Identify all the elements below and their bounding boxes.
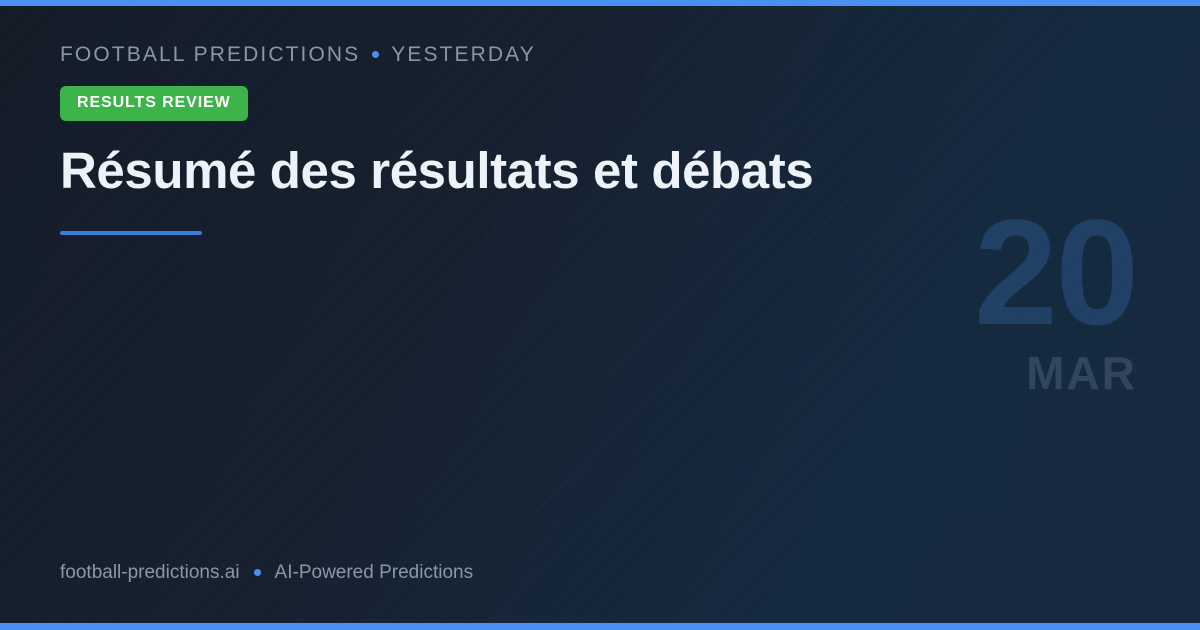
date-month: MAR — [974, 350, 1137, 396]
bullet-dot-icon — [254, 569, 261, 576]
bullet-dot-icon — [372, 51, 379, 58]
eyebrow-category: FOOTBALL PREDICTIONS — [60, 44, 360, 65]
date-display: 20 MAR — [974, 212, 1137, 396]
footer-site: football-predictions.ai — [60, 563, 240, 582]
status-badge: RESULTS REVIEW — [60, 86, 248, 121]
footer-tagline: AI-Powered Predictions — [275, 563, 474, 582]
eyebrow: FOOTBALL PREDICTIONS YESTERDAY — [60, 44, 1140, 65]
eyebrow-timeframe: YESTERDAY — [391, 44, 536, 65]
bottom-accent-bar — [0, 623, 1200, 630]
footer: football-predictions.ai AI-Powered Predi… — [60, 563, 473, 582]
page-title: Résumé des résultats et débats — [60, 142, 890, 199]
title-accent-underline — [60, 231, 202, 235]
card-content: FOOTBALL PREDICTIONS YESTERDAY RESULTS R… — [60, 44, 1140, 235]
top-accent-bar — [0, 0, 1200, 6]
social-share-card: 20 MAR FOOTBALL PREDICTIONS YESTERDAY RE… — [0, 0, 1200, 630]
